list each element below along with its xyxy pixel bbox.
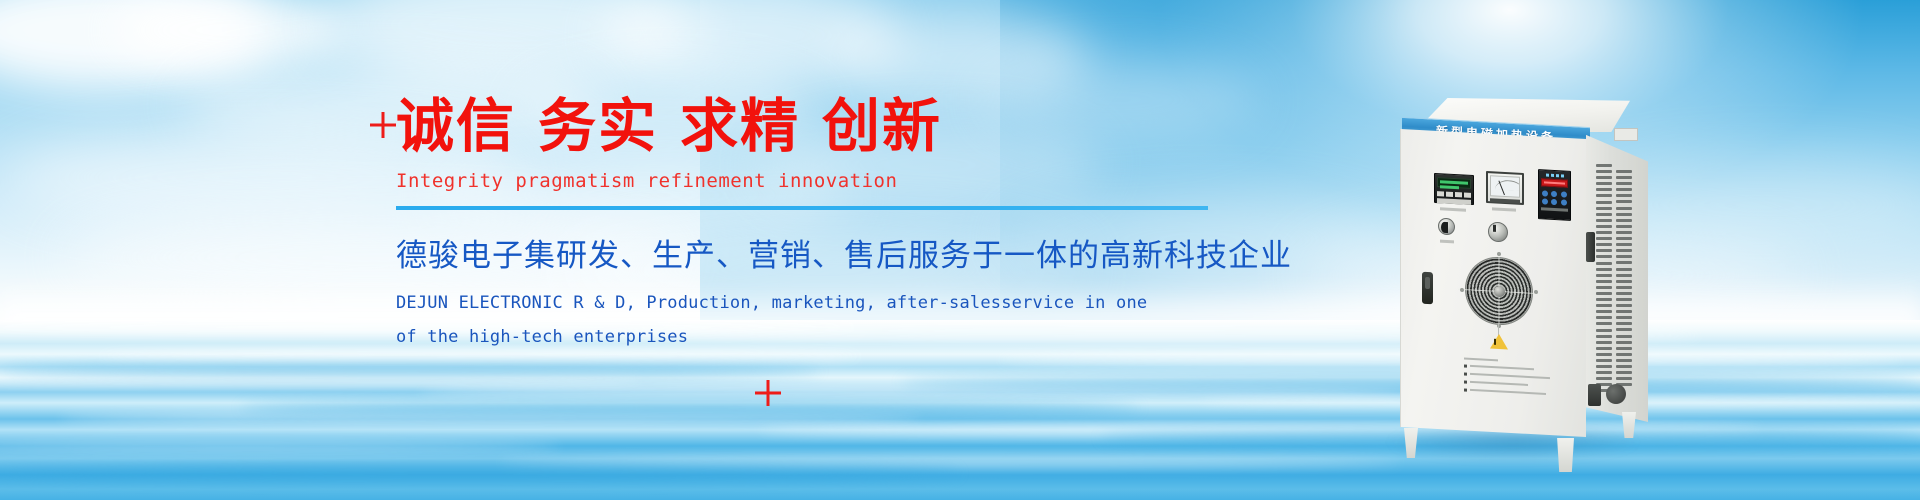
machine-side-connector-box (1588, 384, 1601, 406)
product-image-heating-equipment: 新型电磁加热设备 (1378, 72, 1668, 472)
tagline-en: DEJUN ELECTRONIC R & D, Production, mark… (396, 287, 1256, 353)
tagline-cn: 德骏电子集研发、生产、营销、售后服务于一体的高新科技企业 (396, 230, 1256, 275)
gauge-face (1490, 175, 1520, 198)
keypad-status-leds (1541, 173, 1568, 177)
headline-subtitle-en: Integrity pragmatism refinement innovati… (396, 170, 1256, 192)
warning-instructions-block (1464, 358, 1556, 401)
gauge-nameplate (1490, 198, 1520, 204)
headline-word-4: 创新 (822, 92, 942, 160)
analog-gauge-icon (1486, 171, 1524, 205)
controller-display (1437, 177, 1471, 189)
decorative-plus-top (370, 112, 396, 138)
page-title: 诚信务实求精创新 (396, 96, 1256, 157)
headline-word-3: 求精 (680, 92, 800, 160)
machine-side-port (1606, 384, 1626, 404)
rotary-knob-icon[interactable] (1488, 221, 1508, 242)
keypad-buttons[interactable] (1541, 190, 1568, 205)
headline-word-2: 务实 (538, 92, 658, 160)
controller-buttons[interactable] (1437, 191, 1471, 198)
banner-copy: 诚信务实求精创新 Integrity pragmatism refinement… (396, 96, 1256, 354)
keypad-nameplate (1541, 207, 1568, 211)
hero-banner: 诚信务实求精创新 Integrity pragmatism refinement… (0, 0, 1920, 500)
machine-foot-middle (1556, 438, 1574, 472)
tagline-en-line-2: of the high-tech enterprises (396, 321, 1256, 354)
machine-side-plate (1614, 128, 1638, 141)
fan-screw-right (1534, 290, 1538, 294)
high-voltage-warning-icon (1490, 334, 1508, 350)
divider-rule (396, 206, 1208, 210)
fan-hub (1494, 285, 1505, 297)
cabinet-door-handle[interactable] (1422, 272, 1433, 305)
selector-knob-icon[interactable] (1438, 218, 1455, 236)
digital-controller-icon[interactable] (1434, 173, 1474, 205)
fan-screw-left (1460, 288, 1464, 292)
cooling-fan-grille-icon (1466, 256, 1532, 326)
decorative-plus-bottom (755, 380, 781, 406)
machine-side-handle (1586, 232, 1595, 262)
keypad-display (1541, 178, 1568, 187)
tagline-en-line-1: DEJUN ELECTRONIC R & D, Production, mark… (396, 287, 1256, 320)
control-keypad-icon[interactable] (1538, 169, 1571, 221)
fan-screw-top (1497, 252, 1501, 256)
headline-word-1: 诚信 (396, 92, 516, 160)
